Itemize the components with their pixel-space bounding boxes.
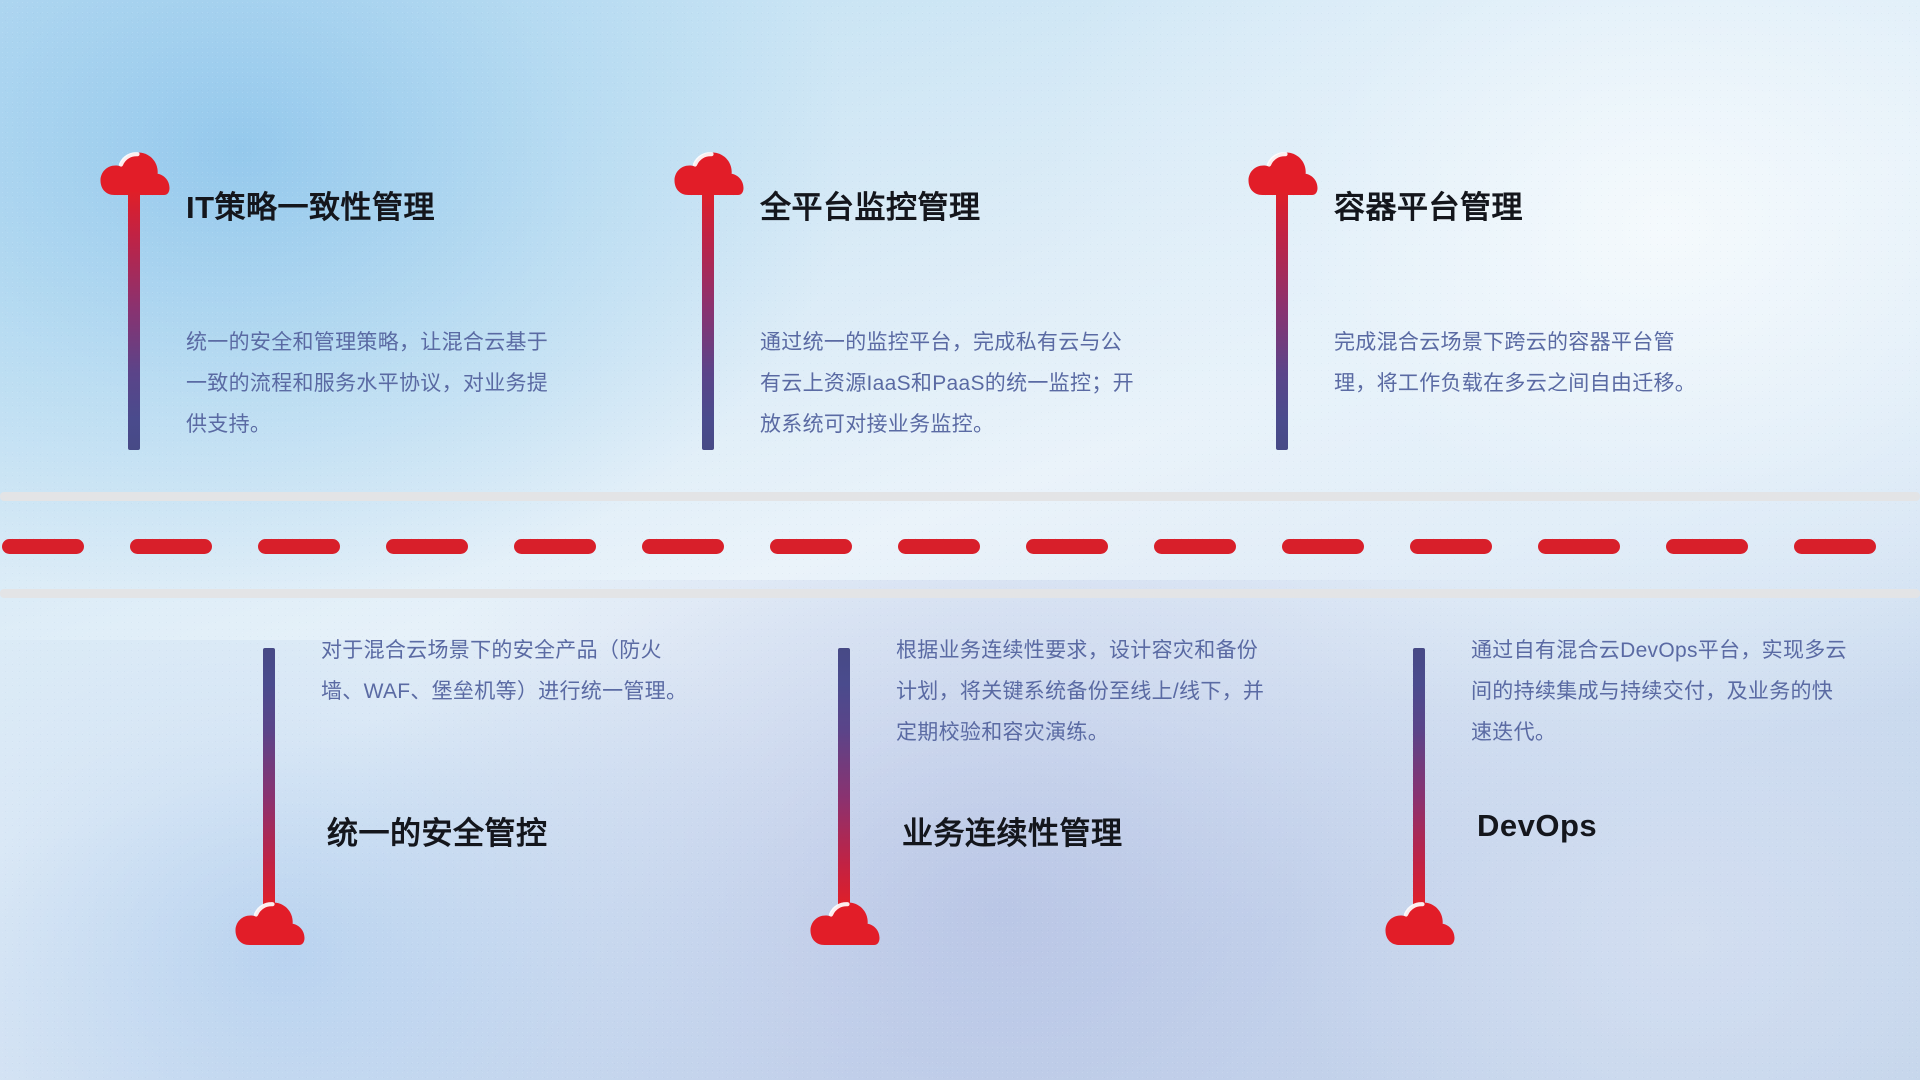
top-column-3-body: 完成混合云场景下跨云的容器平台管理，将工作负载在多云之间自由迁移。 bbox=[1334, 322, 1714, 404]
connector-stem bbox=[838, 648, 850, 906]
top-column-1-title: IT策略一致性管理 bbox=[186, 182, 435, 227]
bottom-column-1-body: 对于混合云场景下的安全产品（防火墙、WAF、堡垒机等）进行统一管理。 bbox=[321, 630, 701, 712]
road-dash bbox=[1666, 539, 1748, 554]
cloud-icon bbox=[1248, 150, 1318, 198]
cloud-icon bbox=[810, 900, 880, 948]
marker-bottom-2 bbox=[810, 618, 880, 948]
top-column-2-body: 通过统一的监控平台，完成私有云与公有云上资源IaaS和PaaS的统一监控；开放系… bbox=[760, 322, 1140, 445]
road-dash bbox=[770, 539, 852, 554]
road-dash bbox=[386, 539, 468, 554]
road-dash bbox=[1282, 539, 1364, 554]
cloud-icon bbox=[235, 900, 305, 948]
connector-stem bbox=[1413, 648, 1425, 906]
bottom-column-2-title: 业务连续性管理 bbox=[902, 808, 1123, 853]
marker-top-1 bbox=[100, 150, 170, 470]
cloud-icon bbox=[1385, 900, 1455, 948]
bottom-column-2-body: 根据业务连续性要求，设计容灾和备份计划，将关键系统备份至线上/线下，并定期校验和… bbox=[896, 630, 1276, 753]
top-column-2-title: 全平台监控管理 bbox=[760, 182, 981, 227]
road-center-dashes bbox=[0, 539, 1920, 554]
top-column-3-title: 容器平台管理 bbox=[1334, 182, 1523, 227]
road-dash bbox=[514, 539, 596, 554]
top-column-1-body: 统一的安全和管理策略，让混合云基于一致的流程和服务水平协议，对业务提供支持。 bbox=[186, 322, 566, 445]
bottom-column-1-title: 统一的安全管控 bbox=[327, 808, 548, 853]
road-line-bottom bbox=[0, 589, 1920, 598]
cloud-icon bbox=[674, 150, 744, 198]
connector-stem bbox=[263, 648, 275, 906]
marker-bottom-3 bbox=[1385, 618, 1455, 948]
road-dash bbox=[1026, 539, 1108, 554]
marker-bottom-1 bbox=[235, 618, 305, 948]
bottom-column-3-body: 通过自有混合云DevOps平台，实现多云间的持续集成与持续交付，及业务的快速迭代… bbox=[1471, 630, 1851, 753]
road-dash bbox=[258, 539, 340, 554]
road-dash bbox=[1538, 539, 1620, 554]
connector-stem bbox=[1276, 192, 1288, 450]
connector-stem bbox=[128, 192, 140, 450]
marker-top-2 bbox=[674, 150, 744, 470]
road-dash bbox=[642, 539, 724, 554]
road-dash bbox=[898, 539, 980, 554]
marker-top-3 bbox=[1248, 150, 1318, 470]
road-dash bbox=[1410, 539, 1492, 554]
cloud-icon bbox=[100, 150, 170, 198]
connector-stem bbox=[702, 192, 714, 450]
road-dash bbox=[1154, 539, 1236, 554]
bottom-column-3-title: DevOps bbox=[1477, 808, 1597, 844]
road-dash bbox=[130, 539, 212, 554]
road-line-top bbox=[0, 492, 1920, 501]
road-dash bbox=[1794, 539, 1876, 554]
road-dash bbox=[2, 539, 84, 554]
infographic-canvas: IT策略一致性管理 统一的安全和管理策略，让混合云基于一致的流程和服务水平协议，… bbox=[0, 0, 1920, 1080]
